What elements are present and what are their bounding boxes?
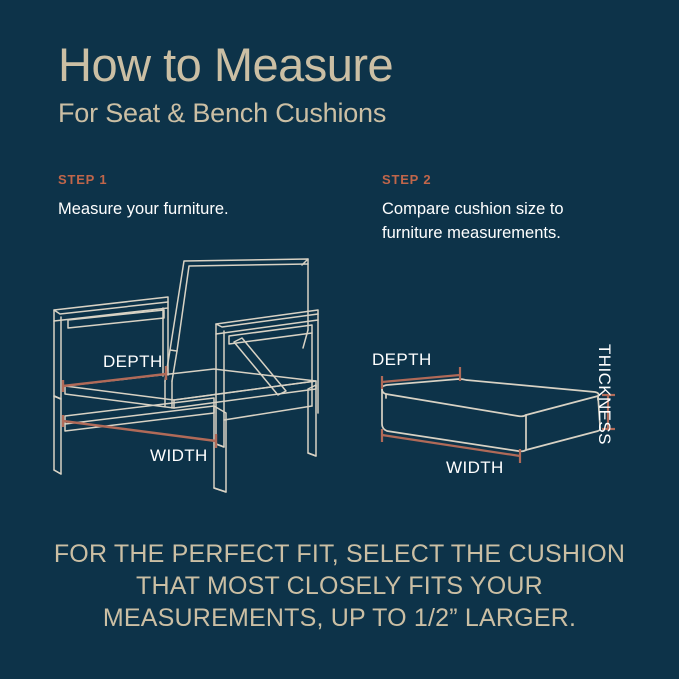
footer-callout: FOR THE PERFECT FIT, SELECT THE CUSHION … — [0, 538, 679, 634]
step-2-block: STEP 2 Compare cushion size to furniture… — [382, 172, 642, 245]
step-1-text: Measure your furniture. — [58, 197, 318, 221]
cushion-depth-label: DEPTH — [372, 350, 432, 370]
chair-depth-measure-line — [63, 374, 166, 386]
chair-diagram: DEPTH WIDTH — [46, 248, 346, 503]
page-title: How to Measure — [58, 38, 638, 92]
step-2-text-line-2: furniture measurements. — [382, 221, 642, 245]
step-1-block: STEP 1 Measure your furniture. — [58, 172, 318, 221]
footer-line-3: MEASUREMENTS, UP TO 1/2” LARGER. — [0, 602, 679, 634]
step-2-kicker: STEP 2 — [382, 172, 642, 187]
chair-depth-label: DEPTH — [103, 352, 163, 372]
header: How to Measure For Seat & Bench Cushions — [58, 38, 638, 130]
step-2-text-line-1: Compare cushion size to — [382, 197, 642, 221]
cushion-diagram: DEPTH WIDTH THICKNESS — [362, 336, 622, 491]
page-subtitle: For Seat & Bench Cushions — [58, 96, 638, 130]
footer-line-2: THAT MOST CLOSELY FITS YOUR — [0, 570, 679, 602]
infographic-page: How to Measure For Seat & Bench Cushions… — [0, 0, 679, 679]
step-1-kicker: STEP 1 — [58, 172, 318, 187]
chair-width-label: WIDTH — [150, 446, 208, 466]
cushion-width-label: WIDTH — [446, 458, 504, 478]
chair-width-measure-line — [63, 421, 216, 441]
cushion-depth-measure-line — [382, 367, 460, 389]
cushion-thickness-label: THICKNESS — [594, 344, 614, 445]
footer-line-1: FOR THE PERFECT FIT, SELECT THE CUSHION — [0, 538, 679, 570]
